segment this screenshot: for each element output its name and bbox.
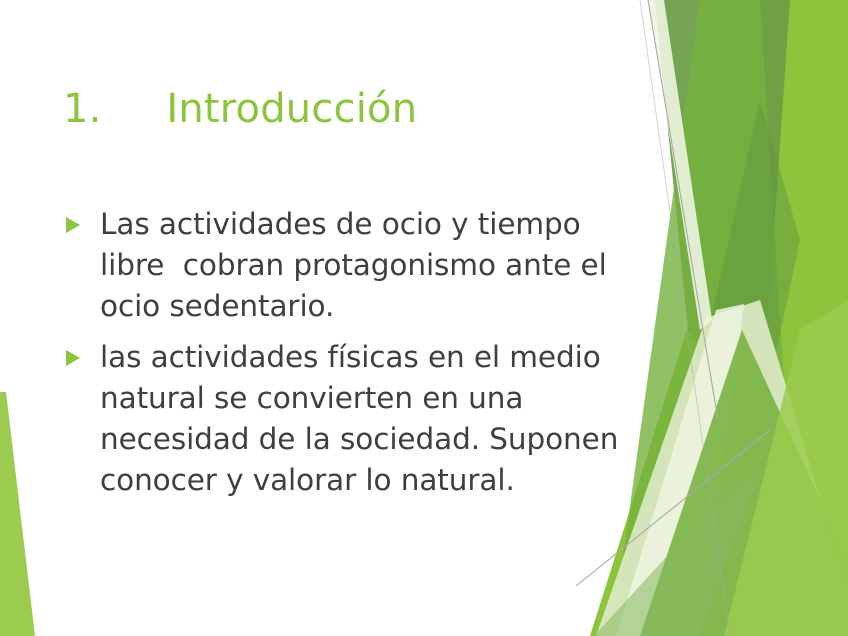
list-item: las actividades físicas en el medio natu… (63, 337, 633, 501)
bullet-list: Las actividades de ocio y tiempo libre c… (63, 204, 633, 511)
list-item-text: Las actividades de ocio y tiempo libre c… (100, 204, 633, 327)
page-title: 1. Introducción (63, 84, 417, 134)
slide-content: 1. Introducción Las actividades de ocio … (0, 0, 848, 636)
triangle-bullet-icon (66, 350, 80, 366)
slide-canvas: 1. Introducción Las actividades de ocio … (0, 0, 848, 636)
triangle-bullet-icon (66, 217, 80, 233)
list-item: Las actividades de ocio y tiempo libre c… (63, 204, 633, 327)
list-item-text: las actividades físicas en el medio natu… (100, 337, 633, 501)
